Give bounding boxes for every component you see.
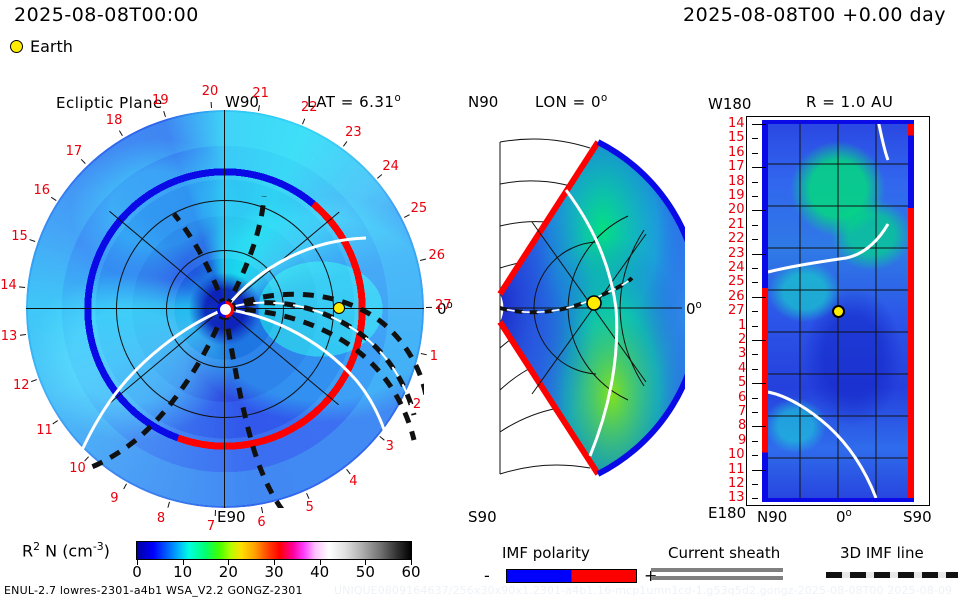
colorbar-tick-label: 40 [310, 563, 329, 581]
imf-polarity-swatch [506, 569, 637, 583]
earth-marker-au [832, 305, 845, 318]
imf-polarity-minus-label: - [484, 566, 490, 585]
footer-model-version: ENUL-2.7 lowres-2301-a4b1 WSA_V2.2 GONGZ… [4, 584, 303, 597]
colorbar-tick-label: 50 [356, 563, 375, 581]
imf-polarity-legend-title: IMF polarity [502, 544, 590, 562]
colorbar-tick-group: 0102030405060 [0, 0, 960, 600]
colorbar-tick-label: 10 [173, 563, 192, 581]
imf-3d-swatch [826, 572, 958, 578]
footer-run-id: UNIQUE0809164637/256x30x90x1.2301-a4b1.1… [334, 584, 952, 597]
colorbar-tick-label: 60 [401, 563, 420, 581]
current-sheath-swatch-bottom [651, 576, 783, 580]
current-sheath-swatch-top [651, 568, 783, 572]
current-sheath-legend-title: Current sheath [668, 544, 780, 562]
imf-3d-legend-title: 3D IMF line [840, 544, 924, 562]
colorbar-tick-label: 0 [132, 563, 142, 581]
colorbar-tick-label: 20 [219, 563, 238, 581]
colorbar-tick-label: 30 [264, 563, 283, 581]
